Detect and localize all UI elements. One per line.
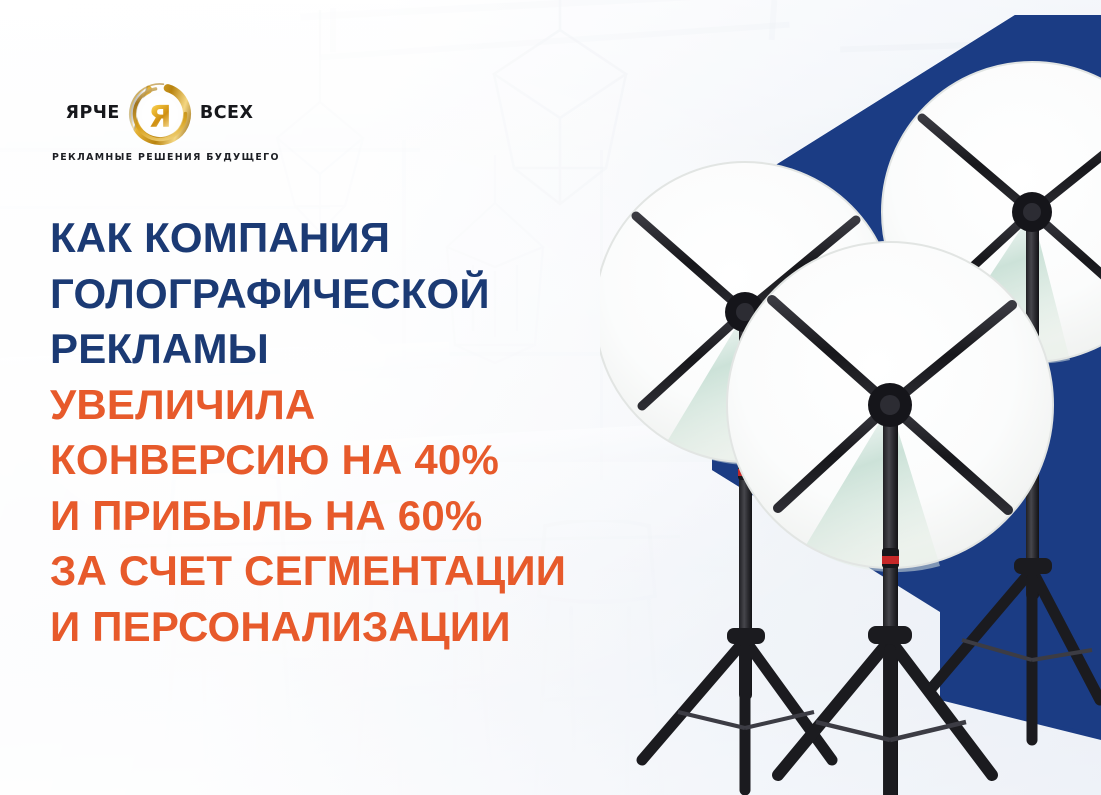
banner-canvas: ЯРЧЕ xyxy=(0,0,1101,795)
headline-line-1: КАК КОМПАНИЯ xyxy=(50,210,650,266)
logo-tagline: РЕКЛАМНЫЕ РЕШЕНИЯ БУДУЩЕГО xyxy=(52,152,267,163)
headline-line-7: ЗА СЧЕТ СЕГМЕНТАЦИИ xyxy=(50,543,650,599)
logo-emblem-icon: Я xyxy=(124,78,196,150)
headline-line-3: РЕКЛАМЫ xyxy=(50,321,650,377)
logo-word-left: ЯРЧЕ xyxy=(65,105,119,123)
logo-wordmark-row: ЯРЧЕ xyxy=(52,78,267,150)
isometric-blue-box xyxy=(600,0,1101,795)
logo-word-right: ВСЕХ xyxy=(200,105,254,123)
headline-line-4: УВЕЛИЧИЛА xyxy=(50,377,650,433)
headline-line-6: И ПРИБЫЛЬ НА 60% xyxy=(50,488,650,544)
headline-line-8: И ПЕРСОНАЛИЗАЦИИ xyxy=(50,599,650,655)
headline-line-2: ГОЛОГРАФИЧЕСКОЙ xyxy=(50,266,650,322)
company-logo[interactable]: ЯРЧЕ xyxy=(52,78,267,176)
headline-line-5: КОНВЕРСИЮ НА 40% xyxy=(50,432,650,488)
svg-text:Я: Я xyxy=(148,100,171,135)
headline-block: КАК КОМПАНИЯ ГОЛОГРАФИЧЕСКОЙ РЕКЛАМЫ УВЕ… xyxy=(50,210,650,654)
